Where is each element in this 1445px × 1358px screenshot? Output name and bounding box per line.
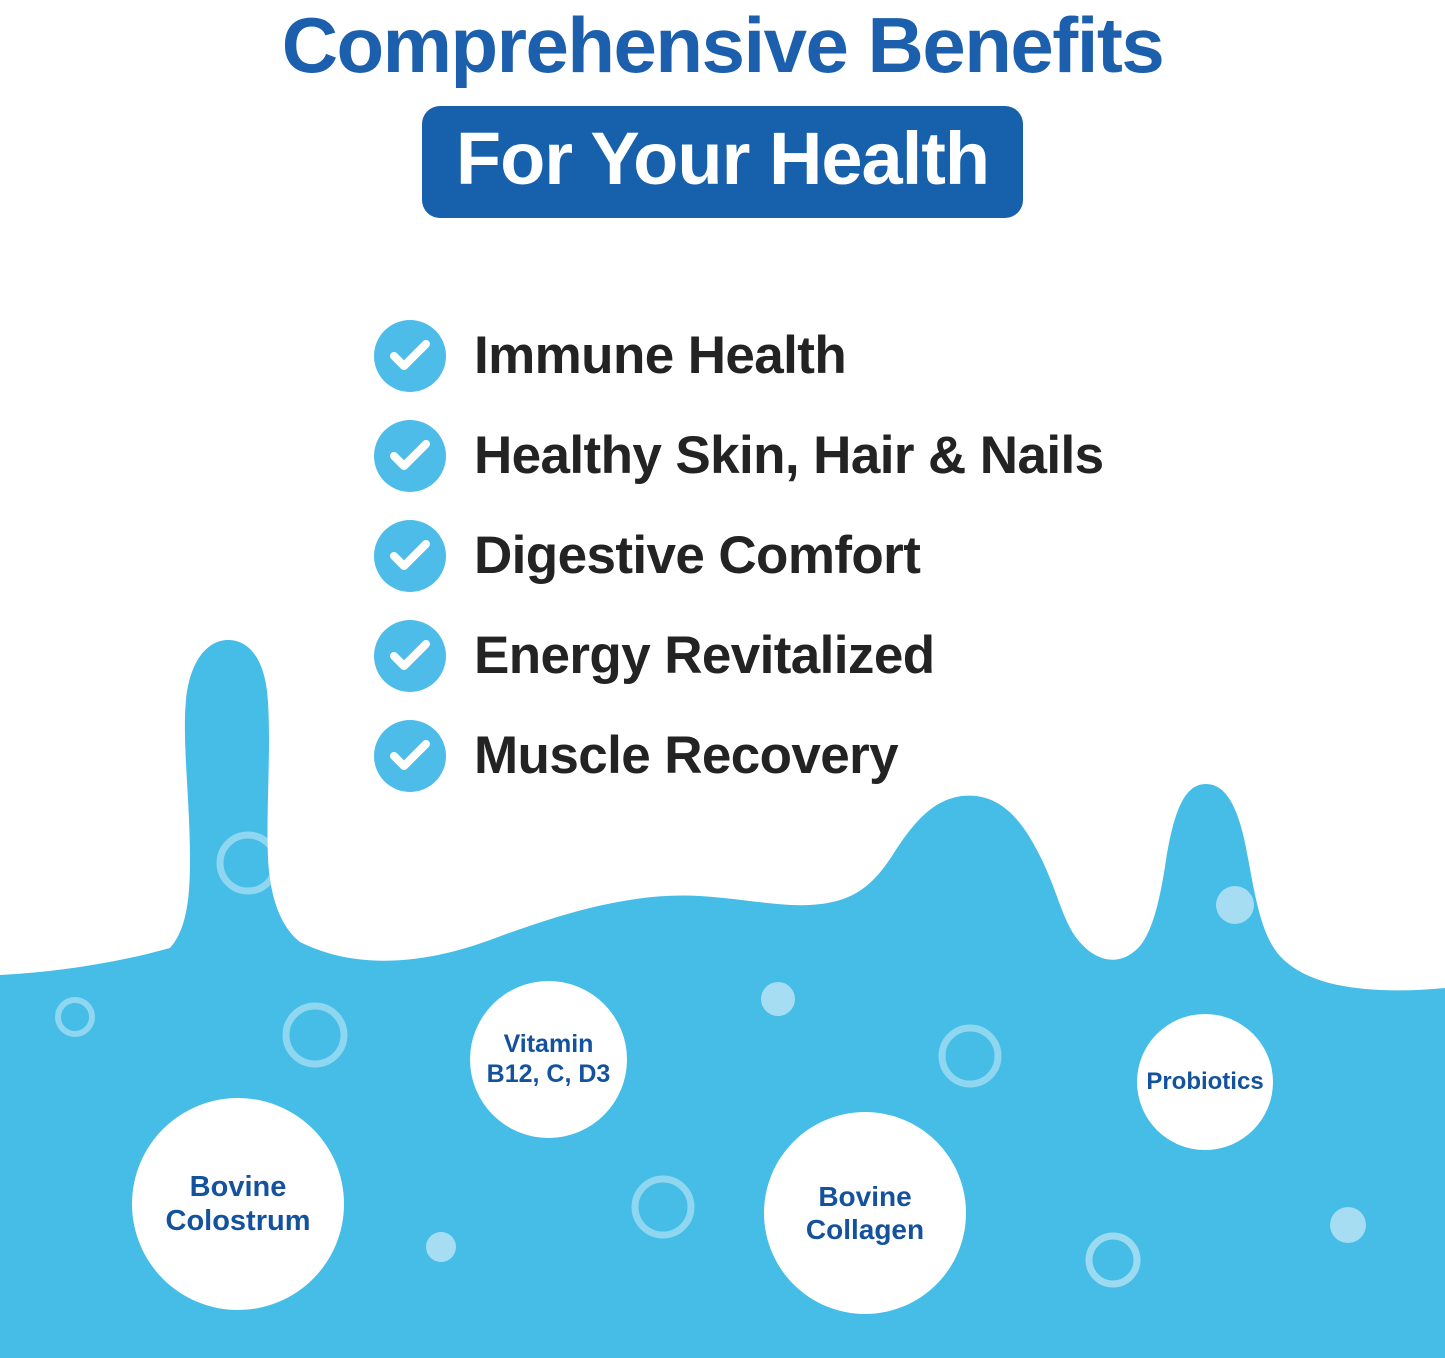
check-icon	[374, 320, 446, 392]
benefit-label: Energy Revitalized	[474, 628, 934, 684]
check-icon	[374, 720, 446, 792]
benefit-label: Digestive Comfort	[474, 528, 920, 584]
benefit-label: Immune Health	[474, 328, 846, 384]
ingredient-label-line1: Probiotics	[1146, 1068, 1263, 1095]
ingredient-label-line1: Bovine	[818, 1181, 911, 1212]
ingredient-label-line2: Collagen	[806, 1214, 924, 1245]
check-icon	[374, 520, 446, 592]
ingredient-label: Vitamin B12, C, D3	[487, 1030, 611, 1089]
title-badge-wrapper: For Your Health	[0, 106, 1445, 218]
benefit-label: Muscle Recovery	[474, 728, 898, 784]
ingredient-label-line1: Vitamin	[504, 1030, 594, 1058]
benefit-item-immune-health: Immune Health	[374, 306, 1103, 406]
ingredient-label-line2: Colostrum	[166, 1205, 311, 1237]
ingredient-label: Probiotics	[1146, 1068, 1263, 1096]
benefits-infographic: Comprehensive Benefits For Your Health	[0, 0, 1445, 1358]
check-icon	[374, 420, 446, 492]
benefit-item-muscle-recovery: Muscle Recovery	[374, 706, 1103, 806]
title-subtitle-badge: For Your Health	[422, 106, 1023, 218]
ingredient-label: Bovine Colostrum	[166, 1170, 311, 1238]
ingredient-label-line1: Bovine	[190, 1171, 287, 1203]
ingredient-label: Bovine Collagen	[806, 1180, 924, 1246]
benefit-item-digestive-comfort: Digestive Comfort	[374, 506, 1103, 606]
bubble-solid-2	[1216, 886, 1254, 924]
ingredient-label-line2: B12, C, D3	[487, 1060, 611, 1088]
benefit-item-healthy-skin-hair-nails: Healthy Skin, Hair & Nails	[374, 406, 1103, 506]
ingredient-bubble-vitamin: Vitamin B12, C, D3	[470, 981, 627, 1138]
bubble-solid-1	[761, 982, 795, 1016]
ingredient-bubble-probiotics: Probiotics	[1137, 1014, 1273, 1150]
page-title: Comprehensive Benefits	[0, 0, 1445, 84]
benefit-item-energy-revitalized: Energy Revitalized	[374, 606, 1103, 706]
ingredient-bubble-bovine-colostrum: Bovine Colostrum	[132, 1098, 344, 1310]
benefits-list: Immune Health Healthy Skin, Hair & Nails…	[374, 306, 1103, 806]
bubble-solid-4	[426, 1232, 456, 1262]
check-icon	[374, 620, 446, 692]
bubble-solid-3	[1330, 1207, 1366, 1243]
headline-block: Comprehensive Benefits For Your Health	[0, 0, 1445, 218]
benefit-label: Healthy Skin, Hair & Nails	[474, 428, 1103, 484]
ingredient-bubble-bovine-collagen: Bovine Collagen	[764, 1112, 966, 1314]
